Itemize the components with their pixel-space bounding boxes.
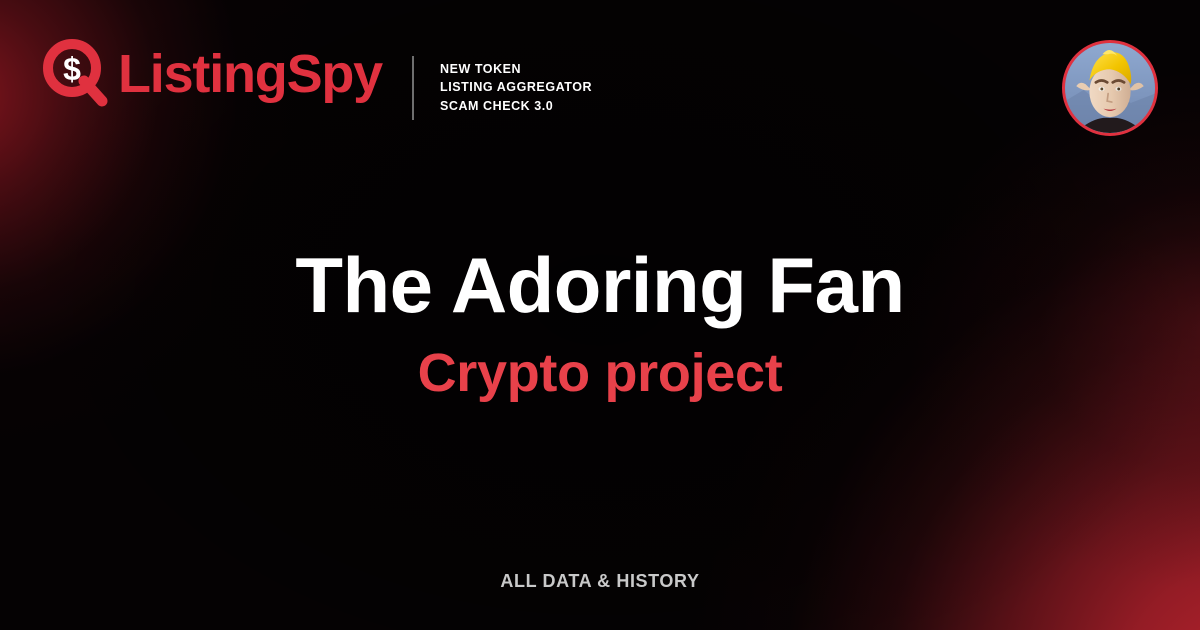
page-title: The Adoring Fan bbox=[0, 246, 1200, 324]
brand-logo[interactable]: $ ListingSpy bbox=[42, 31, 382, 117]
svg-text:$: $ bbox=[63, 51, 81, 87]
brand-wordmark: ListingSpy bbox=[118, 47, 382, 101]
tagline-line-1: NEW TOKEN bbox=[440, 61, 592, 78]
header: $ ListingSpy NEW TOKEN LISTING AGGREGATO… bbox=[0, 0, 1200, 175]
header-divider bbox=[412, 56, 414, 120]
magnifier-dollar-icon: $ bbox=[42, 39, 112, 109]
page-subtitle: Crypto project bbox=[0, 346, 1200, 400]
hero-content: The Adoring Fan Crypto project bbox=[0, 246, 1200, 400]
tagline-line-3: SCAM CHECK 3.0 bbox=[440, 98, 592, 115]
project-avatar-icon bbox=[1065, 43, 1155, 133]
project-avatar[interactable] bbox=[1062, 40, 1158, 136]
tagline-line-2: LISTING AGGREGATOR bbox=[440, 79, 592, 96]
og-card: $ ListingSpy NEW TOKEN LISTING AGGREGATO… bbox=[0, 0, 1200, 630]
brand-tagline: NEW TOKEN LISTING AGGREGATOR SCAM CHECK … bbox=[440, 61, 592, 115]
footer-caption: ALL DATA & HISTORY bbox=[0, 571, 1200, 592]
